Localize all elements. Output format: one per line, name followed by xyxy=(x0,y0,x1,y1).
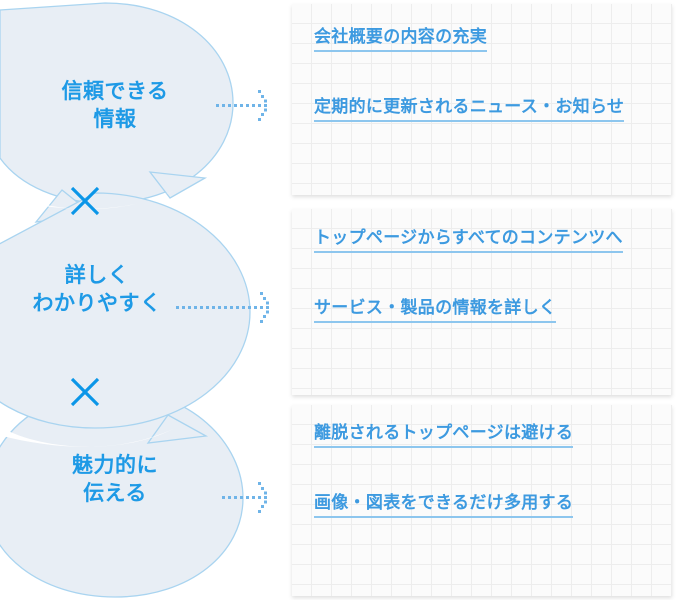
panel-3-line-2: 画像・図表をできるだけ多用する xyxy=(314,488,573,518)
panel-3-line-1: 離脱されるトップページは避ける xyxy=(314,418,573,448)
bubble-shape-1 xyxy=(0,3,233,222)
dotted-arrow-icon-2 xyxy=(176,288,280,333)
panel-1-line-2: 定期的に更新されるニュース・お知らせ xyxy=(314,92,624,122)
multiply-icon-1 xyxy=(68,184,102,218)
panel-2-line-1: トップページからすべてのコンテンツへ xyxy=(314,223,623,253)
dotted-arrow-icon-3 xyxy=(222,478,280,523)
panel-1-line-1: 会社概要の内容の充実 xyxy=(314,22,487,52)
content-panel-2: トップページからすべてのコンテンツへ サービス・製品の情報を詳しく xyxy=(292,209,672,395)
content-panel-1: 会社概要の内容の充実 定期的に更新されるニュース・お知らせ xyxy=(292,4,672,195)
panel-2-line-2: サービス・製品の情報を詳しく xyxy=(314,293,556,323)
diagram-canvas: 信頼できる 情報 詳しく わかりやすく 魅力的に 伝える xyxy=(0,0,680,600)
multiply-icon-2 xyxy=(68,375,102,409)
content-panel-3: 離脱されるトップページは避ける 画像・図表をできるだけ多用する xyxy=(292,405,672,596)
dotted-arrow-icon-1 xyxy=(216,86,278,131)
